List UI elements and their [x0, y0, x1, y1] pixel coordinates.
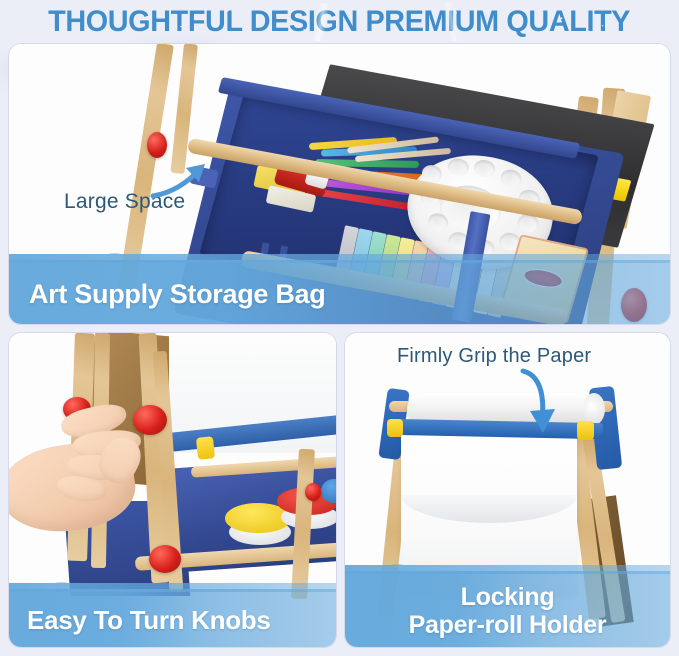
caption-label: Locking Paper-roll Holder — [345, 583, 670, 639]
panel-grid: Large Space Art Supply Storage Bag — [0, 44, 679, 647]
panel-storage-bag: Large Space Art Supply Storage Bag — [9, 44, 670, 324]
red-knob — [147, 132, 167, 158]
callout-firmly-grip: Firmly Grip the Paper — [397, 345, 591, 368]
palette-well — [446, 157, 470, 178]
caption-bar-knobs: Easy To Turn Knobs — [9, 589, 336, 647]
caption-label: Easy To Turn Knobs — [27, 605, 271, 636]
caption-bar-storage-bag: Art Supply Storage Bag — [9, 260, 670, 324]
palette-well — [473, 158, 497, 179]
caption-line-1: Locking — [345, 583, 670, 611]
caption-line-2: Paper-roll Holder — [345, 611, 670, 639]
callout-large-space: Large Space — [64, 190, 185, 214]
red-knob — [305, 483, 321, 501]
panel-paper-roll: Firmly Grip the Paper Locking Paper-roll… — [345, 333, 670, 647]
yellow-locking-clip — [196, 436, 215, 460]
panel-knobs: Easy To Turn Knobs — [9, 333, 336, 647]
yellow-locking-clip — [577, 421, 594, 440]
palette-well — [499, 168, 523, 189]
caption-bar-paper-roll: Locking Paper-roll Holder — [345, 571, 670, 647]
yellow-locking-clip — [387, 419, 403, 437]
bottom-panel-row: Easy To Turn Knobs — [9, 333, 670, 647]
red-knob — [149, 545, 181, 573]
red-knob-being-turned — [133, 405, 167, 435]
header: THOUGHTFUL DESIGN PREMIUM QUALITY — [0, 0, 679, 44]
page-title: THOUGHTFUL DESIGN PREMIUM QUALITY — [49, 5, 631, 39]
caption-label: Art Supply Storage Bag — [29, 279, 325, 310]
